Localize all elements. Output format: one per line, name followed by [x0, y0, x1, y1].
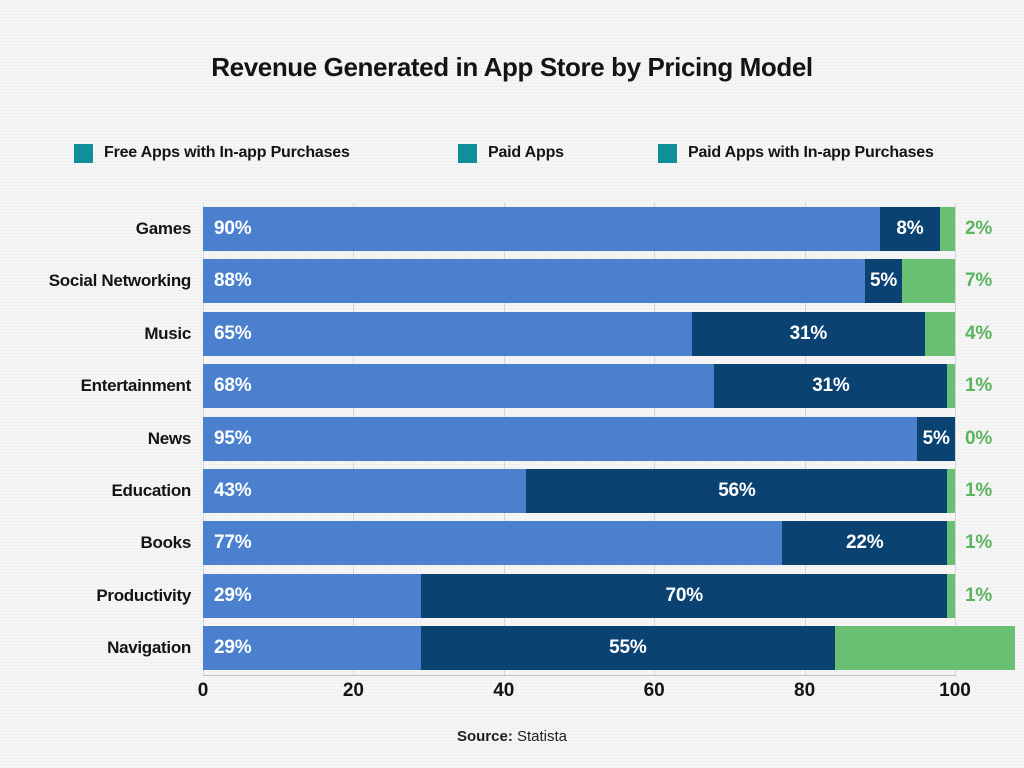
bar-row: Social Networking7%88%5%	[0, 255, 1024, 307]
bar-track: 88%5%	[203, 259, 955, 303]
bar-segment-free-apps-with-in-app-purchases[interactable]: 65%	[203, 312, 692, 356]
page-title: Revenue Generated in App Store by Pricin…	[0, 52, 1024, 83]
bar-value-label: 88%	[214, 270, 251, 292]
bar-value-label-outside: 4%	[965, 312, 992, 356]
legend-item-label: Paid Apps	[488, 144, 564, 162]
category-label-games: Games	[0, 203, 191, 255]
category-label-navigation: Navigation	[0, 622, 191, 674]
stacked-bar-rows: Games2%90%8%Social Networking7%88%5%Musi…	[0, 203, 1024, 675]
bar-segment-paid-apps-with-in-app-purchases[interactable]	[902, 259, 955, 303]
x-axis-tick-label: 40	[493, 680, 514, 702]
category-label-news: News	[0, 413, 191, 465]
bar-value-label: 65%	[214, 323, 251, 345]
source-value: Statista	[517, 728, 567, 745]
bar-segment-free-apps-with-in-app-purchases[interactable]: 43%	[203, 469, 526, 513]
bar-row: Books1%77%22%	[0, 517, 1024, 569]
source-caption: Source: Statista	[0, 728, 1024, 745]
bar-row: News0%95%5%	[0, 413, 1024, 465]
bar-value-label-outside: 1%	[965, 521, 992, 565]
bar-segment-free-apps-with-in-app-purchases[interactable]: 29%	[203, 574, 421, 618]
bar-segment-paid-apps-with-in-app-purchases[interactable]	[947, 364, 955, 408]
x-axis-tick-label: 100	[939, 680, 971, 702]
legend-item-label: Free Apps with In-app Purchases	[104, 144, 350, 162]
category-label-entertainment: Entertainment	[0, 360, 191, 412]
bar-track: 65%31%	[203, 312, 955, 356]
bar-value-label: 55%	[601, 637, 654, 659]
bar-segment-paid-apps[interactable]: 56%	[526, 469, 947, 513]
category-label-books: Books	[0, 517, 191, 569]
bar-segment-paid-apps[interactable]: 22%	[782, 521, 947, 565]
bar-value-label: 90%	[214, 218, 251, 240]
legend-item-paid-apps-with-in-app-purchases[interactable]: Paid Apps with In-app Purchases	[658, 140, 934, 166]
bar-track: 29%70%	[203, 574, 955, 618]
category-label-music: Music	[0, 308, 191, 360]
bar-row: Productivity1%29%70%	[0, 570, 1024, 622]
bar-value-label: 31%	[782, 323, 835, 345]
bar-segment-paid-apps[interactable]: 55%	[421, 626, 835, 670]
bar-value-label: 77%	[214, 532, 251, 554]
bar-value-label-outside: 0%	[965, 417, 992, 461]
legend-swatch-icon	[74, 144, 93, 163]
bar-segment-paid-apps-with-in-app-purchases[interactable]	[947, 574, 955, 618]
x-axis-tick-label: 80	[794, 680, 815, 702]
bar-segment-paid-apps[interactable]: 5%	[917, 417, 955, 461]
category-label-productivity: Productivity	[0, 570, 191, 622]
bar-value-label: 68%	[214, 375, 251, 397]
x-axis-tick-label: 20	[343, 680, 364, 702]
chart-plot-area: Games2%90%8%Social Networking7%88%5%Musi…	[0, 203, 1024, 680]
bar-track: 77%22%	[203, 521, 955, 565]
bar-segment-paid-apps-with-in-app-purchases[interactable]	[947, 469, 955, 513]
bar-row: Music4%65%31%	[0, 308, 1024, 360]
bar-track: 43%56%	[203, 469, 955, 513]
bar-value-label: 56%	[710, 480, 763, 502]
bar-track: 95%5%	[203, 417, 955, 461]
bar-value-label-outside: 2%	[965, 207, 992, 251]
bar-value-label-outside: 1%	[965, 364, 992, 408]
legend-item-paid-apps[interactable]: Paid Apps	[458, 140, 564, 166]
bar-value-label: 31%	[804, 375, 857, 397]
bar-row: Navigation24%29%55%	[0, 622, 1024, 674]
bar-segment-paid-apps[interactable]: 5%	[865, 259, 903, 303]
source-prefix: Source:	[457, 728, 513, 745]
bar-segment-free-apps-with-in-app-purchases[interactable]: 29%	[203, 626, 421, 670]
legend-swatch-icon	[458, 144, 477, 163]
bar-value-label: 5%	[915, 428, 958, 450]
bar-value-label: 5%	[862, 270, 905, 292]
legend-swatch-icon	[658, 144, 677, 163]
bar-segment-paid-apps[interactable]: 31%	[692, 312, 925, 356]
bar-value-label-outside: 1%	[965, 574, 992, 618]
bar-row: Education1%43%56%	[0, 465, 1024, 517]
bar-segment-paid-apps-with-in-app-purchases[interactable]	[940, 207, 955, 251]
bar-segment-paid-apps[interactable]: 8%	[880, 207, 940, 251]
legend-item-free-apps-with-in-app-purchases[interactable]: Free Apps with In-app Purchases	[74, 140, 350, 166]
bar-segment-free-apps-with-in-app-purchases[interactable]: 68%	[203, 364, 714, 408]
bar-segment-paid-apps[interactable]: 31%	[714, 364, 947, 408]
x-axis-tick-label: 60	[644, 680, 665, 702]
bar-segment-paid-apps-with-in-app-purchases[interactable]	[835, 626, 1015, 670]
legend-item-label: Paid Apps with In-app Purchases	[688, 144, 934, 162]
bar-row: Entertainment1%68%31%	[0, 360, 1024, 412]
bar-value-label: 8%	[888, 218, 931, 240]
bar-track: 68%31%	[203, 364, 955, 408]
bar-row: Games2%90%8%	[0, 203, 1024, 255]
bar-value-label: 95%	[214, 428, 251, 450]
bar-track: 29%55%	[203, 626, 955, 670]
bar-segment-paid-apps[interactable]: 70%	[421, 574, 947, 618]
bar-value-label: 29%	[214, 637, 251, 659]
bar-segment-free-apps-with-in-app-purchases[interactable]: 88%	[203, 259, 865, 303]
bar-segment-free-apps-with-in-app-purchases[interactable]: 90%	[203, 207, 880, 251]
bar-segment-paid-apps-with-in-app-purchases[interactable]	[947, 521, 955, 565]
bar-value-label: 29%	[214, 585, 251, 607]
bar-segment-paid-apps-with-in-app-purchases[interactable]	[925, 312, 955, 356]
bar-value-label: 43%	[214, 480, 251, 502]
x-axis-ticks: 020406080100	[0, 680, 1024, 708]
x-axis-tick-label: 0	[198, 680, 209, 702]
bar-value-label-outside: 7%	[965, 259, 992, 303]
bar-value-label: 22%	[838, 532, 891, 554]
bar-segment-free-apps-with-in-app-purchases[interactable]: 95%	[203, 417, 917, 461]
category-label-social-networking: Social Networking	[0, 255, 191, 307]
chart-legend: Free Apps with In-app Purchases Paid App…	[74, 140, 994, 166]
category-label-education: Education	[0, 465, 191, 517]
x-axis-line	[203, 675, 956, 676]
bar-value-label-outside: 1%	[965, 469, 992, 513]
bar-track: 90%8%	[203, 207, 955, 251]
bar-value-label: 70%	[658, 585, 711, 607]
bar-segment-free-apps-with-in-app-purchases[interactable]: 77%	[203, 521, 782, 565]
